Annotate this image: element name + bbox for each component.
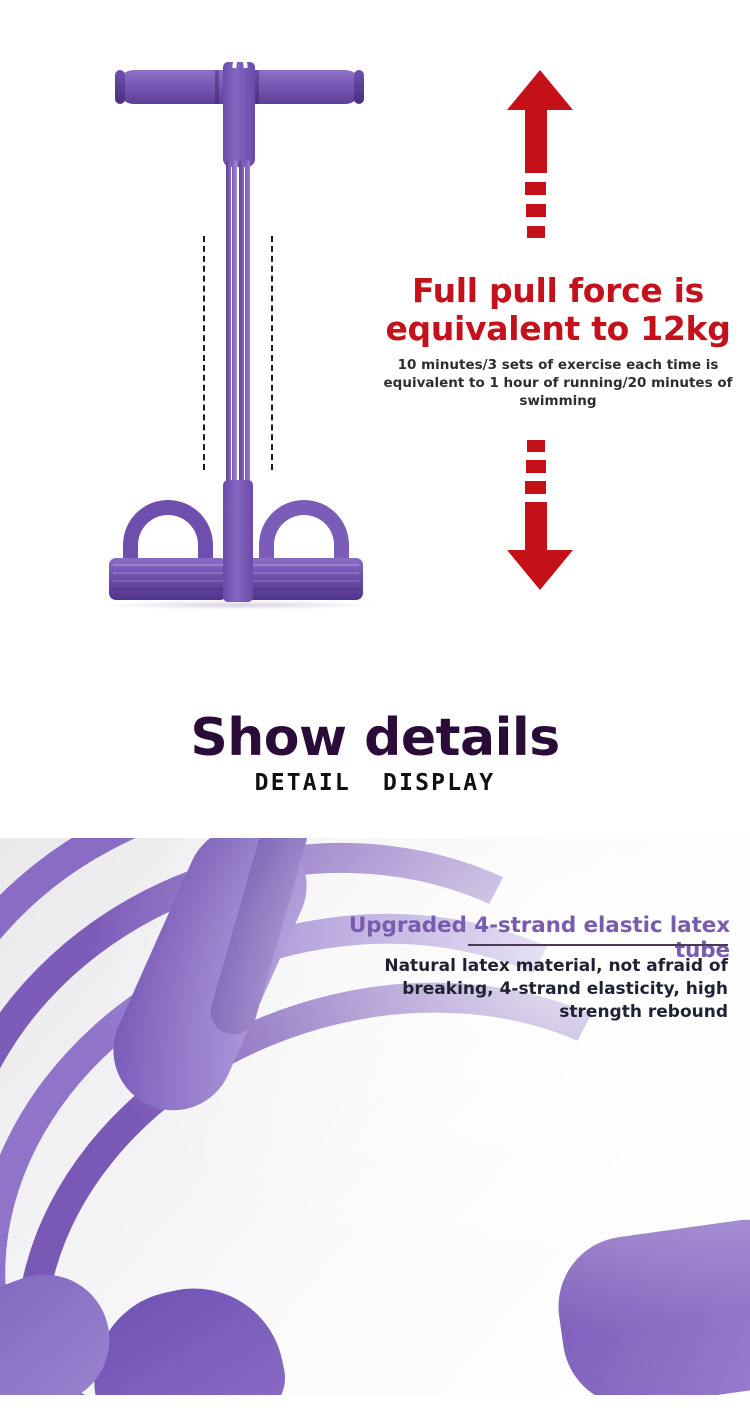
arrow-shaft [525, 108, 547, 173]
show-details-banner: Show details DETAIL DISPLAY [0, 660, 750, 838]
latex-tube [226, 160, 231, 500]
arrow-dash [526, 204, 546, 217]
handle-cap-right [354, 70, 364, 104]
arrow-dash [526, 460, 546, 473]
latex-tube-description: Natural latex material, not afraid of br… [330, 955, 728, 1024]
handle-cap-left [115, 70, 125, 104]
title-divider [468, 944, 728, 946]
pedal-roller [245, 558, 363, 600]
up-arrow-icon [485, 70, 605, 255]
arrow-dash [527, 226, 545, 238]
arrow-shaft [525, 502, 547, 552]
foot-pedal-left [109, 500, 227, 605]
foot-pedal-right [245, 500, 363, 605]
pull-force-section: Full pull force is equivalent to 12kg 10… [0, 0, 750, 660]
banner-subtitle: DETAIL DISPLAY [0, 770, 750, 796]
product-image-pull-rope [95, 48, 385, 628]
pedal-roller [109, 558, 227, 600]
latex-tube-bundle [226, 160, 252, 500]
product-shadow [101, 600, 379, 610]
latex-tube [239, 160, 244, 500]
arrow-dash [527, 440, 545, 452]
latex-tube-crossing-dark [205, 838, 313, 1040]
latex-tube-tail [549, 1211, 750, 1395]
latex-tube [232, 160, 237, 500]
arrow-head [507, 550, 573, 590]
bottom-white-strip [0, 1395, 750, 1408]
product-detail-page: Full pull force is equivalent to 12kg 10… [0, 0, 750, 1408]
connector-sleeve [223, 62, 255, 167]
arrow-dash [525, 182, 546, 195]
dashed-guide-line-left [203, 236, 205, 470]
down-arrow-icon [485, 440, 605, 590]
handle-seam-right [255, 70, 259, 104]
arrow-dash [525, 481, 546, 494]
center-clip [223, 480, 253, 602]
latex-tube-end-nub-secondary [0, 1256, 128, 1395]
latex-tube [245, 160, 250, 500]
handle-seam-left [215, 70, 219, 104]
pull-force-headline: Full pull force is equivalent to 12kg [378, 272, 738, 349]
latex-tube-end-nub [78, 1272, 293, 1395]
arrow-head [507, 70, 573, 110]
banner-title: Show details [0, 712, 750, 764]
latex-tube-crossing [94, 838, 326, 1129]
pull-force-subcopy: 10 minutes/3 sets of exercise each time … [372, 356, 744, 410]
dashed-guide-line-right [271, 236, 273, 470]
